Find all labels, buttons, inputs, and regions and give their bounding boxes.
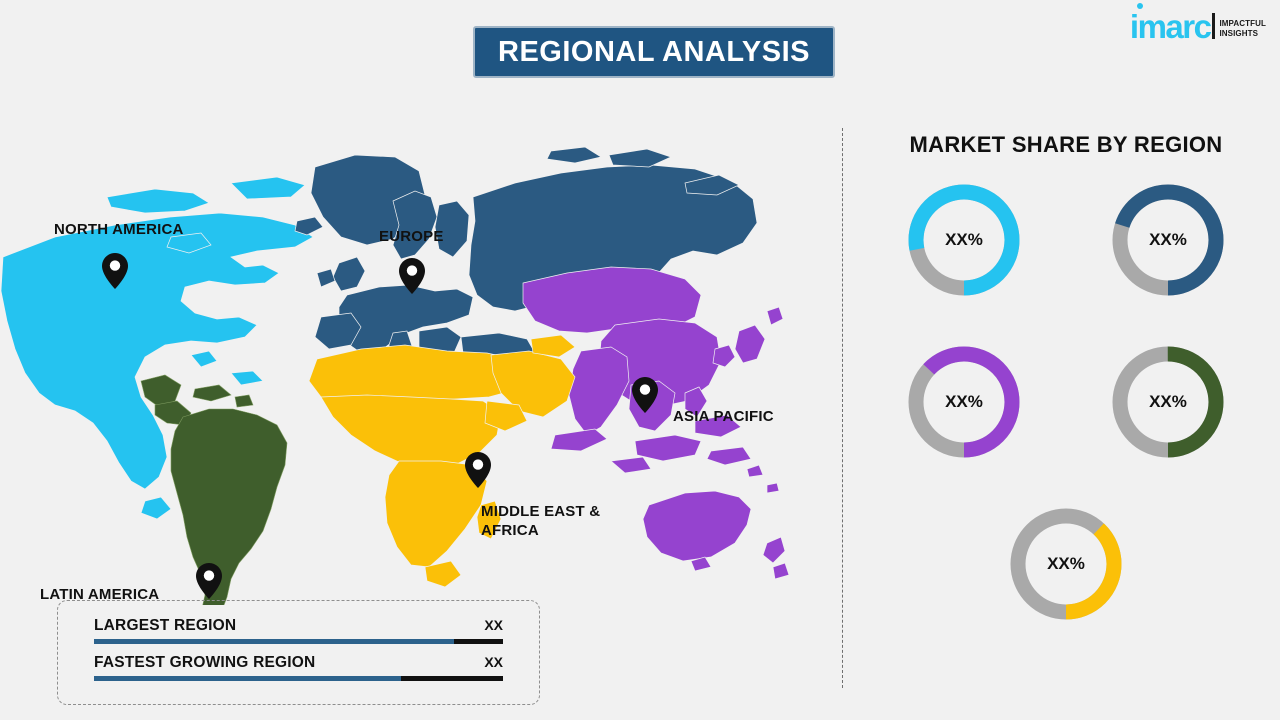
largest-region-label: LARGEST REGION [94, 617, 236, 635]
fastest-growing-region-bar-fill [94, 676, 401, 681]
map-pin-latin-america-icon[interactable] [196, 563, 222, 599]
imarc-logo: imarc IMPACTFUL INSIGHTS [1130, 12, 1266, 42]
fastest-growing-region-bar [94, 676, 503, 681]
panel-divider [842, 128, 843, 688]
map-label-asia-pacific: ASIA PACIFIC [673, 408, 774, 427]
donut-value-latin-america: XX% [1106, 340, 1230, 464]
map-label-middle-east-africa: MIDDLE EAST & AFRICA [481, 503, 600, 541]
fastest-growing-region-value: XX [484, 654, 503, 670]
region-summary-box: LARGEST REGION XX FASTEST GROWING REGION… [57, 600, 540, 705]
market-share-title: MARKET SHARE BY REGION [856, 132, 1276, 158]
world-map-panel: NORTH AMERICA EUROPE ASIA PACIFIC MIDDLE… [0, 95, 840, 655]
donut-chart-latin-america[interactable]: XX% [1106, 340, 1230, 464]
world-map-svg [0, 105, 805, 605]
donut-value-middle-east-africa: XX% [1004, 502, 1128, 626]
map-label-north-america: NORTH AMERICA [54, 221, 184, 240]
logo-tagline-line2: INSIGHTS [1219, 29, 1266, 39]
map-pin-north-america-icon[interactable] [102, 253, 128, 289]
logo-tagline: IMPACTFUL INSIGHTS [1219, 19, 1266, 42]
map-pin-europe-icon[interactable] [399, 258, 425, 294]
donut-chart-grid: XX%XX%XX%XX%XX% [856, 178, 1276, 626]
map-label-europe: EUROPE [379, 228, 444, 247]
largest-region-value: XX [484, 617, 503, 633]
donut-value-north-america: XX% [902, 178, 1026, 302]
largest-region-row: LARGEST REGION XX [94, 617, 503, 644]
market-share-panel: MARKET SHARE BY REGION XX%XX%XX%XX%XX% [856, 120, 1276, 700]
largest-region-bar [94, 639, 503, 644]
donut-value-europe: XX% [1106, 178, 1230, 302]
page-title: REGIONAL ANALYSIS [498, 36, 810, 69]
largest-region-bar-fill [94, 639, 454, 644]
logo-dot-icon [1137, 3, 1143, 9]
logo-wordmark: imarc [1130, 12, 1211, 42]
donut-chart-middle-east-africa[interactable]: XX% [1004, 502, 1128, 626]
page-title-banner: REGIONAL ANALYSIS [473, 26, 835, 78]
logo-tagline-line1: IMPACTFUL [1219, 19, 1266, 29]
fastest-growing-region-label: FASTEST GROWING REGION [94, 654, 315, 672]
map-pin-middle-east-africa-icon[interactable] [465, 452, 491, 488]
donut-chart-asia-pacific[interactable]: XX% [902, 340, 1026, 464]
fastest-growing-region-row: FASTEST GROWING REGION XX [94, 654, 503, 681]
donut-value-asia-pacific: XX% [902, 340, 1026, 464]
map-region-middle-east-africa[interactable] [309, 335, 575, 587]
map-pin-asia-pacific-icon[interactable] [632, 377, 658, 413]
donut-chart-europe[interactable]: XX% [1106, 178, 1230, 302]
logo-divider-bar [1212, 13, 1215, 39]
logo-word-text: imarc [1130, 8, 1211, 45]
donut-chart-north-america[interactable]: XX% [902, 178, 1026, 302]
